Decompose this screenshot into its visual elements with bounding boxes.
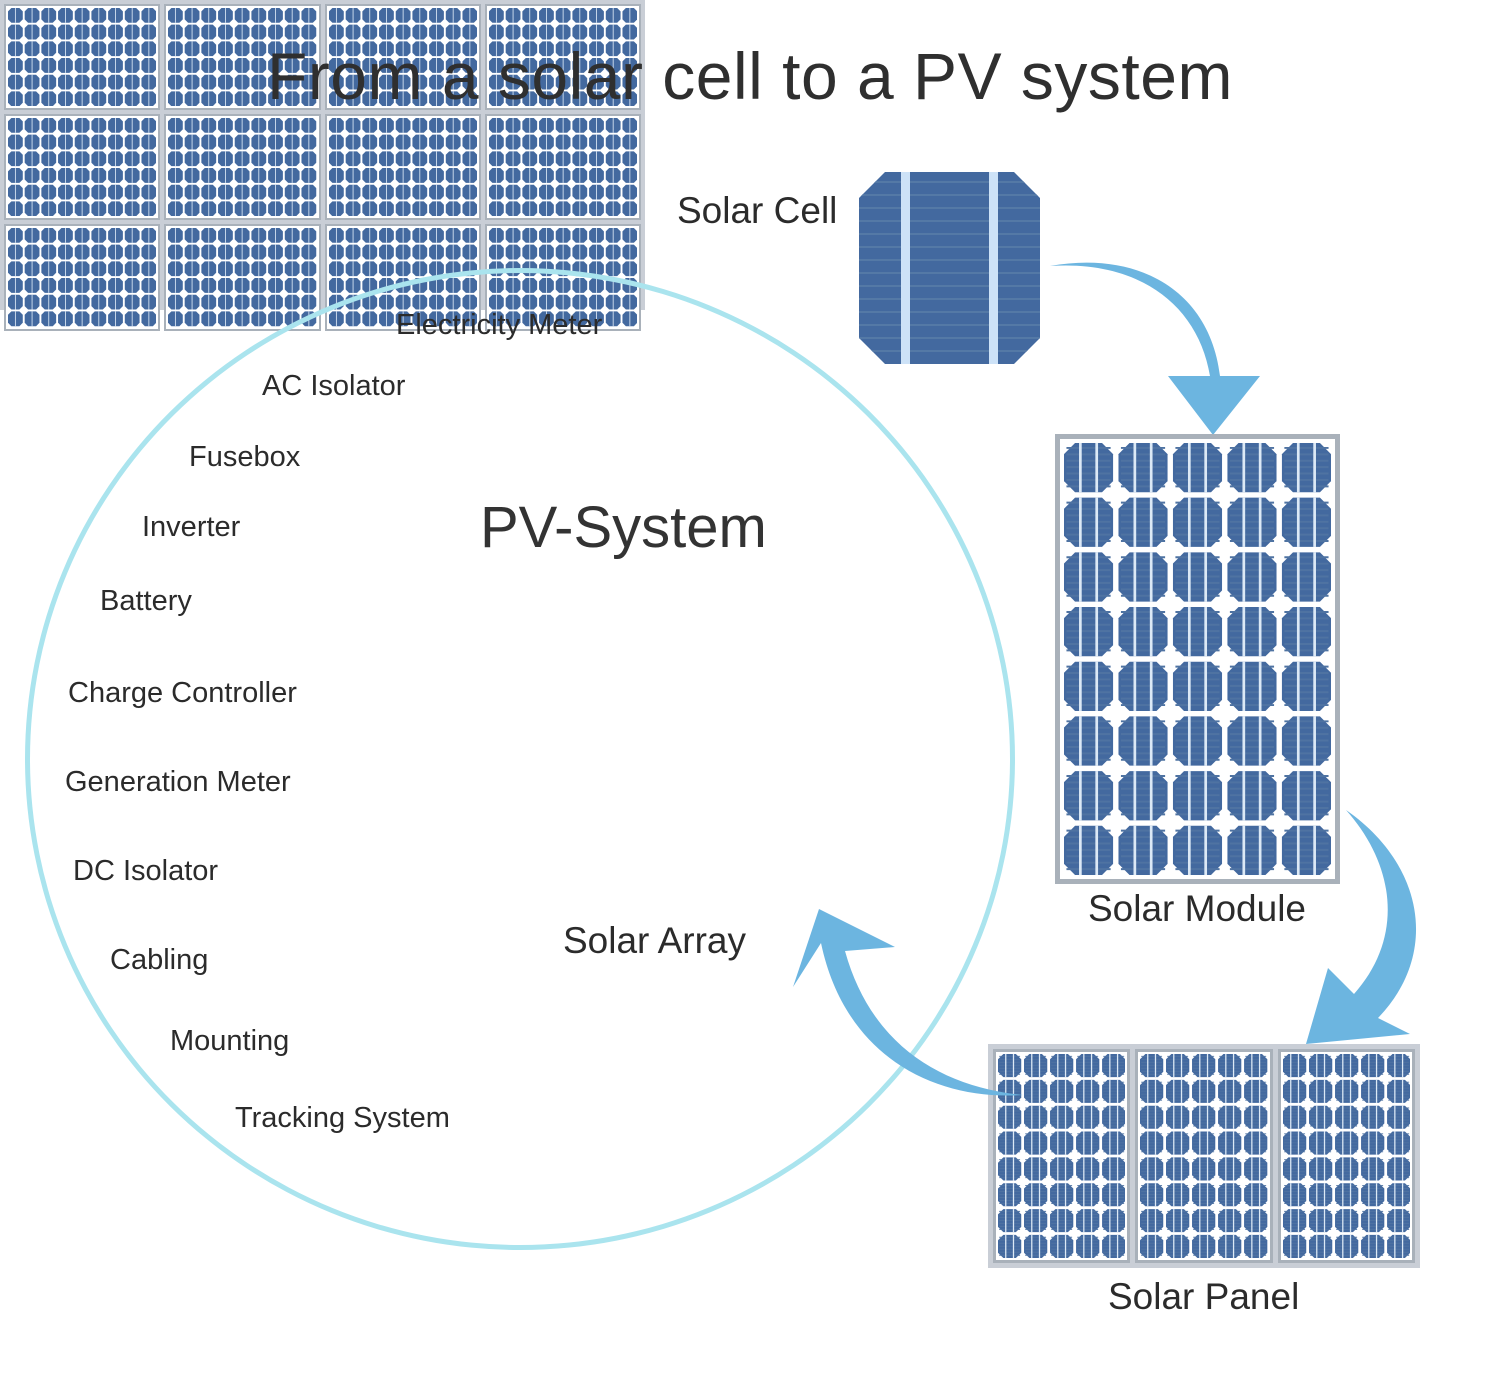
solar-array-module-inner xyxy=(166,226,318,328)
cell-grid xyxy=(1283,1054,1410,1258)
pv-component-mounting: Mounting xyxy=(170,1025,289,1058)
cell-grid xyxy=(329,118,477,216)
solar-panel-module xyxy=(1135,1049,1272,1263)
curved-arrow-down-icon xyxy=(1048,252,1278,437)
solar-panel-icon xyxy=(988,1044,1420,1268)
curved-arrow-down-left-icon xyxy=(1298,806,1468,1046)
pv-component-tracking-system: Tracking System xyxy=(235,1102,450,1135)
cell-grid xyxy=(1140,1054,1267,1258)
solar-array-module-inner xyxy=(327,116,479,218)
pv-component-inverter: Inverter xyxy=(142,511,240,544)
solar-array-module xyxy=(325,114,481,220)
solar-array-module xyxy=(4,224,160,330)
pv-component-charge-controller: Charge Controller xyxy=(68,677,297,710)
solar-array-module xyxy=(164,224,320,330)
cell-grid xyxy=(168,228,316,326)
solar-array-module xyxy=(485,114,641,220)
solar-array-module-inner xyxy=(166,116,318,218)
solar-array-caption: Solar Array xyxy=(563,920,746,962)
pv-component-battery: Battery xyxy=(100,585,192,618)
solar-array-module xyxy=(4,114,160,220)
pv-component-electricity-meter: Electricity Meter xyxy=(396,309,602,342)
solar-module-caption: Solar Module xyxy=(1088,888,1306,930)
pv-system-label: PV-System xyxy=(480,494,767,561)
solar-module-inner xyxy=(1060,439,1335,879)
curved-arrow-up-left-icon xyxy=(785,905,1025,1130)
solar-array-module-inner xyxy=(487,116,639,218)
cell-grid xyxy=(168,118,316,216)
solar-panel-module-inner xyxy=(1138,1052,1269,1260)
cell-grid xyxy=(1064,443,1331,875)
solar-panel-module-inner xyxy=(1281,1052,1412,1260)
page-title: From a solar cell to a PV system xyxy=(0,38,1500,114)
pv-component-cabling: Cabling xyxy=(110,944,208,977)
solar-panel-caption: Solar Panel xyxy=(1108,1276,1299,1318)
solar-cell-icon xyxy=(859,172,1040,364)
solar-array-module-inner xyxy=(6,116,158,218)
pv-component-fusebox: Fusebox xyxy=(189,441,300,474)
pv-component-generation-meter: Generation Meter xyxy=(65,766,291,799)
cell-grid xyxy=(489,118,637,216)
cell-grid xyxy=(8,118,156,216)
solar-panel-module xyxy=(1278,1049,1415,1263)
solar-array-module-inner xyxy=(6,226,158,328)
solar-array-module xyxy=(164,114,320,220)
cell-grid xyxy=(8,228,156,326)
pv-component-ac-isolator: AC Isolator xyxy=(262,370,405,403)
pv-component-dc-isolator: DC Isolator xyxy=(73,855,218,888)
diagram-canvas: From a solar cell to a PV system PV-Syst… xyxy=(0,0,1500,1377)
solar-cell-caption: Solar Cell xyxy=(677,190,837,232)
